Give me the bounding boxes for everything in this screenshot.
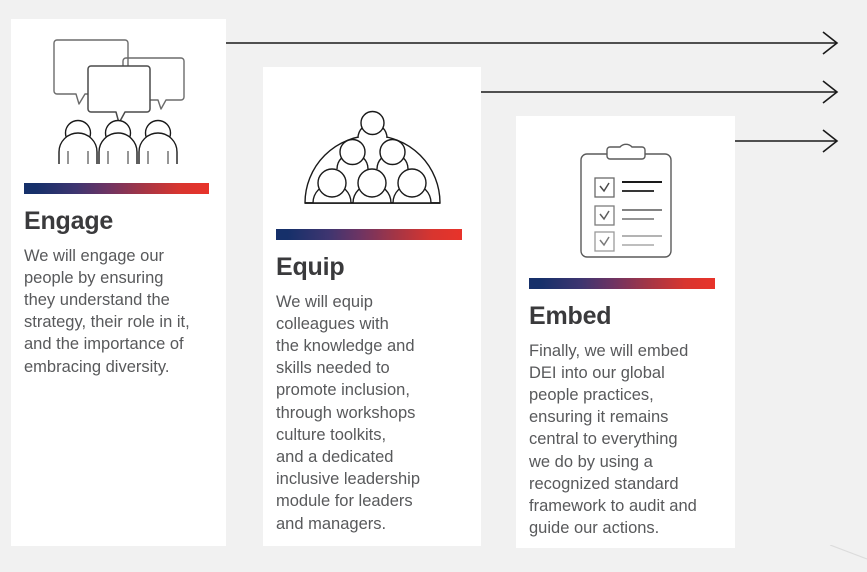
card-title-equip: Equip (276, 254, 468, 282)
arrow-right-icon (735, 127, 841, 155)
decorative-hairline (700, 545, 867, 567)
gradient-divider (529, 278, 715, 289)
card-title-engage: Engage (24, 208, 213, 236)
arrow-right-icon (226, 29, 841, 57)
diagram-canvas: Engage We will engage our people by ensu… (0, 0, 867, 567)
clipboard-checklist-icon (529, 130, 722, 260)
gradient-divider (276, 229, 462, 240)
group-of-people-dome-icon (276, 81, 468, 211)
card-body-embed: Finally, we will embed DEI into our glob… (529, 340, 722, 540)
card-body-engage: We will engage our people by ensuring th… (24, 245, 213, 378)
card-embed[interactable]: Embed Finally, we will embed DEI into ou… (516, 116, 735, 548)
card-body-equip: We will equip colleagues with the knowle… (276, 291, 468, 535)
speech-bubbles-people-icon (24, 33, 213, 165)
card-title-embed: Embed (529, 303, 722, 331)
card-equip[interactable]: Equip We will equip colleagues with the … (263, 67, 481, 546)
arrow-right-icon (481, 78, 841, 106)
gradient-divider (24, 183, 209, 194)
card-engage[interactable]: Engage We will engage our people by ensu… (11, 19, 226, 546)
